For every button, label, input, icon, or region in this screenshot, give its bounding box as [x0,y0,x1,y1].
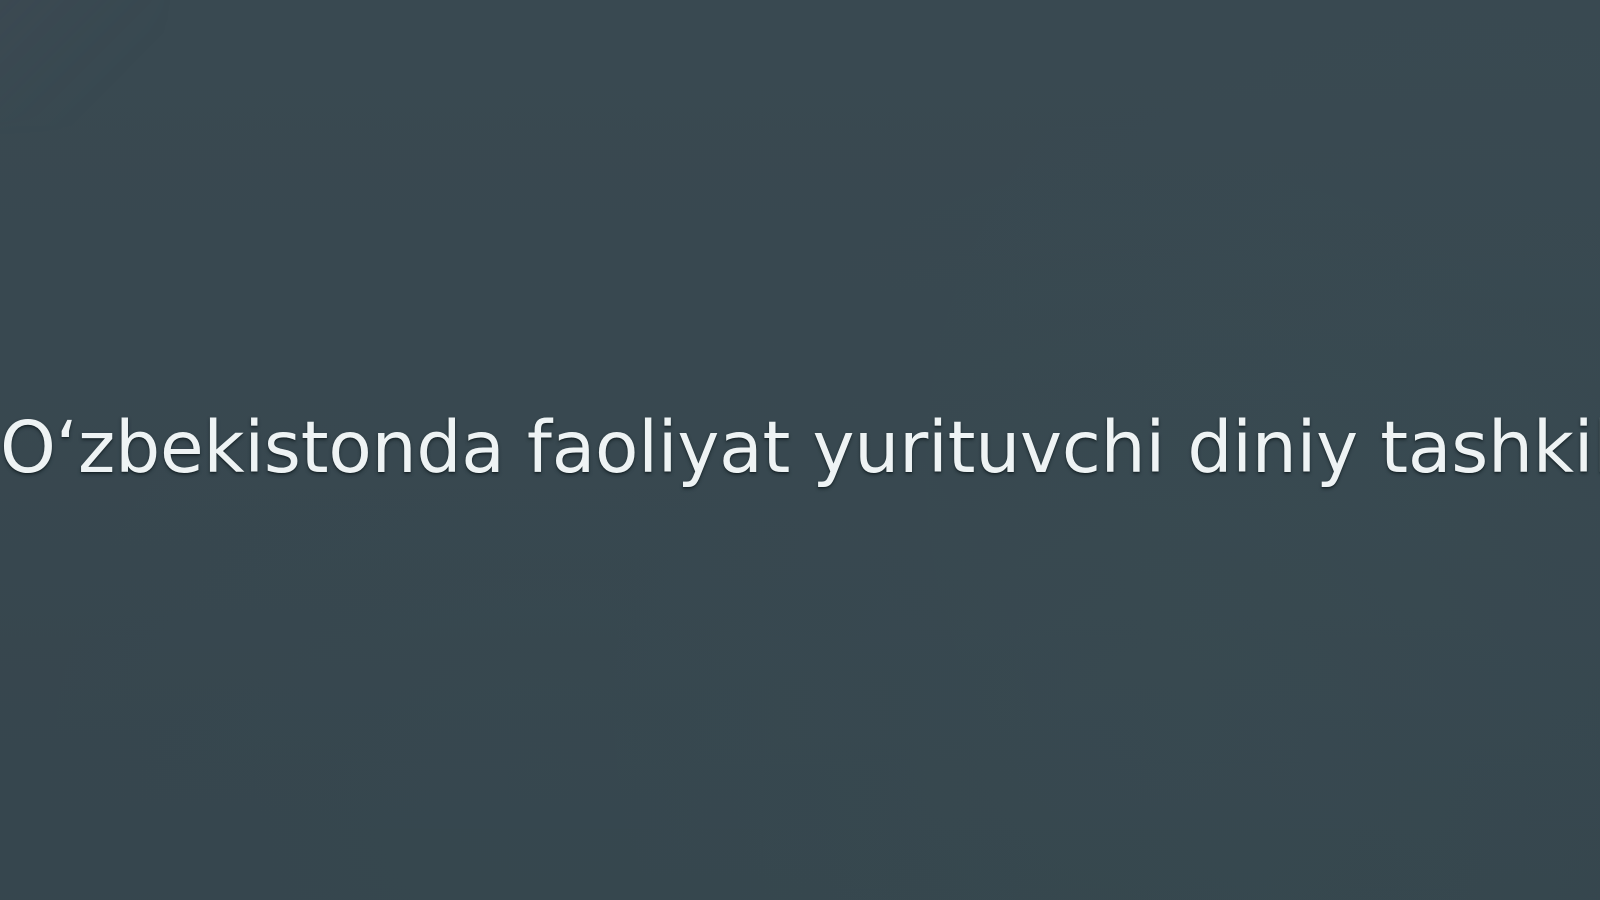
title-block: Oʻzbekistonda faoliyat yurituvchi diniy … [0,408,1600,488]
slide-title: Oʻzbekistonda faoliyat yurituvchi diniy … [0,408,1600,488]
corner-artifact [0,0,164,126]
title-slide: Oʻzbekistonda faoliyat yurituvchi diniy … [0,0,1600,900]
